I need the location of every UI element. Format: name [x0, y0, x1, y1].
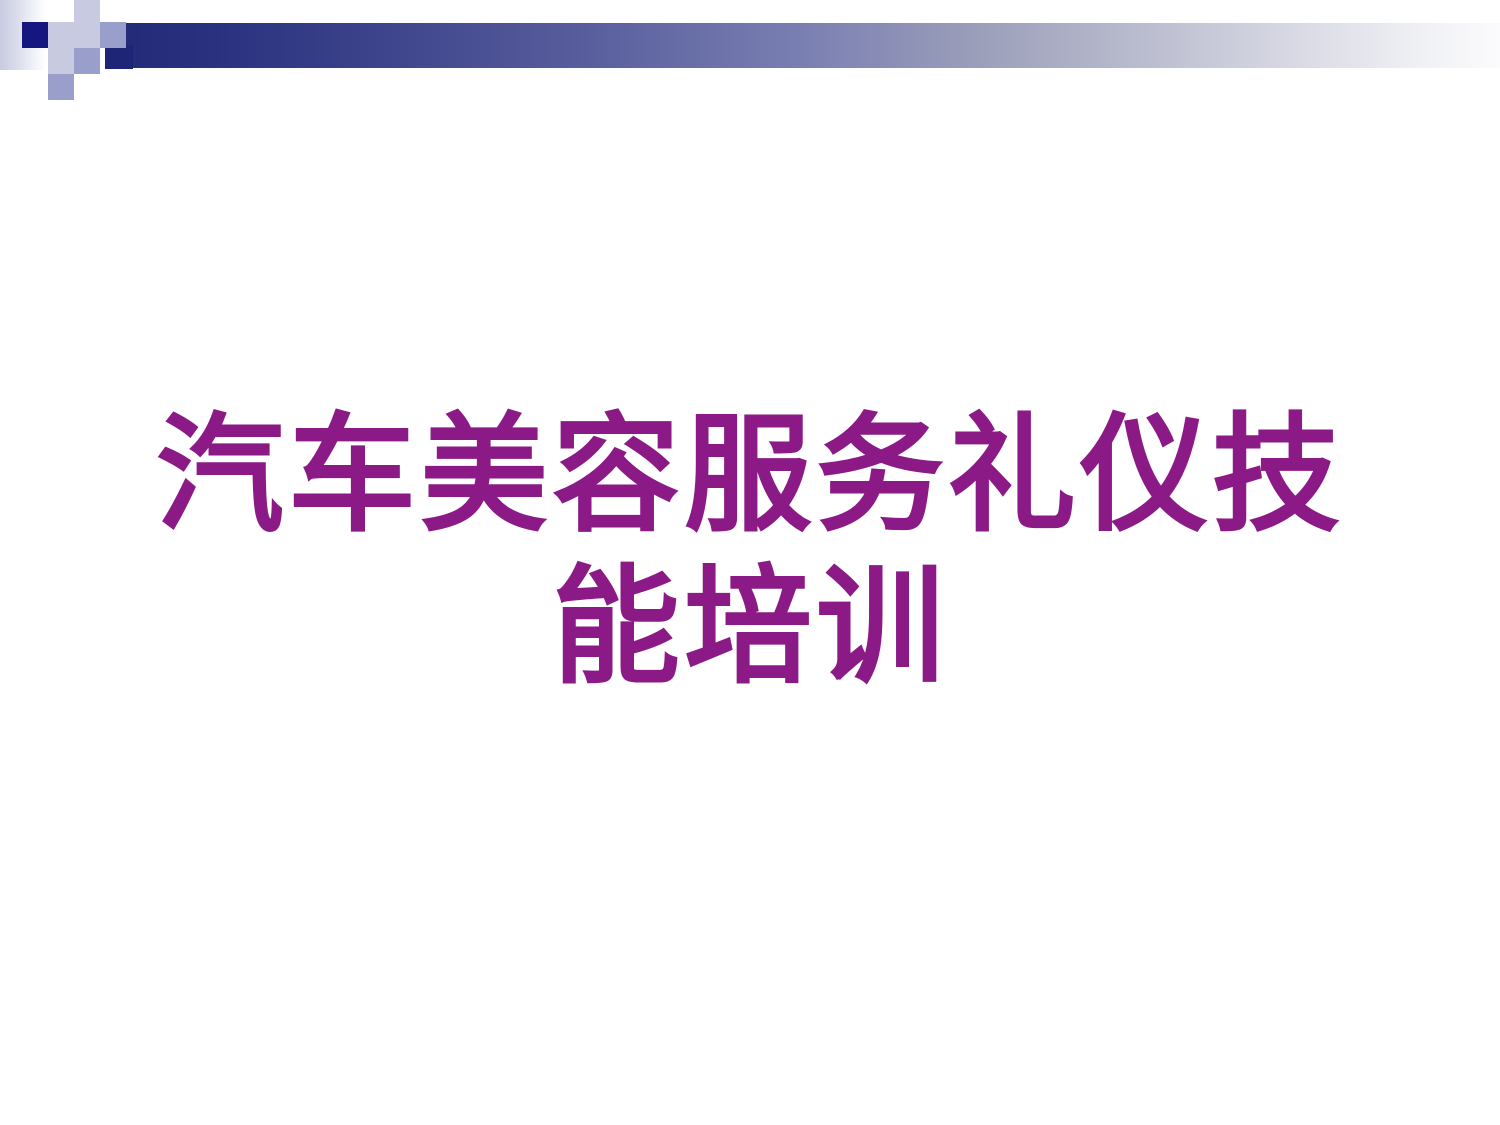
decorative-header-band — [0, 0, 1500, 110]
presentation-slide: 汽车美容服务礼仪技 能培训 — [0, 0, 1500, 1125]
slide-title-line-2: 能培训 — [0, 552, 1500, 704]
square-top-row-2 — [74, 22, 100, 48]
slide-title-block: 汽车美容服务礼仪技 能培训 — [0, 400, 1500, 704]
slide-title-line-1: 汽车美容服务礼仪技 — [0, 400, 1500, 552]
square-top-row-1 — [74, 0, 100, 22]
square-low-row-2 — [74, 48, 100, 74]
header-gradient-bar — [105, 23, 1500, 68]
square-low-row-1 — [48, 48, 74, 74]
navy-square-accent — [22, 22, 48, 48]
square-mid-row-1 — [48, 22, 74, 48]
square-mid-row-2 — [100, 22, 126, 48]
square-bottom-1 — [48, 74, 74, 100]
navy-accent-block — [105, 45, 133, 69]
